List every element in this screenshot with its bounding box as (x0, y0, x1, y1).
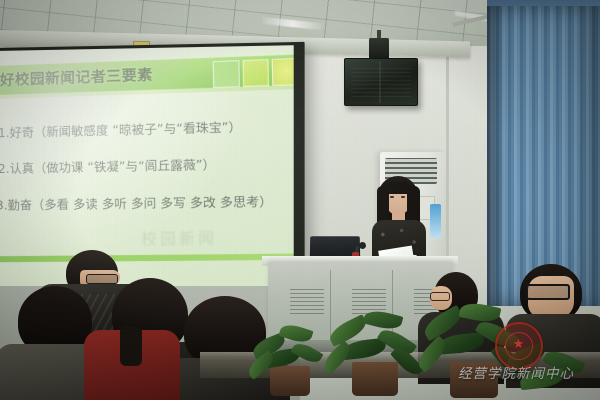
photo-scene: 好校园新闻记者三要素 1.好奇（新闻敏感度 “晾被子”与“看珠宝”） 2.认真（… (0, 0, 600, 400)
plant-pot (270, 366, 310, 396)
slide-thumbnail-group (213, 58, 294, 86)
glasses-icon (526, 284, 570, 300)
slide-thumbnail-2 (242, 59, 269, 87)
curtain-shadow (487, 6, 505, 306)
slide-bullet-3: 3.勤奋（多看 多读 多听 多问 多写 多改 多思考） (0, 191, 273, 213)
slide-bullet-1: 1.好奇（新闻敏感度 “晾被子”与“看珠宝”） (0, 117, 242, 142)
watermark-organization: 经营学院新闻中心 (458, 362, 574, 382)
plant-leaf (459, 300, 502, 325)
speaker-grill (351, 67, 411, 97)
microphone-head-icon (359, 242, 366, 249)
presenter-eye-left (390, 196, 394, 198)
plant-leaf (291, 339, 324, 366)
plant-leaf (363, 308, 404, 333)
speaker-mount (369, 38, 389, 60)
podium-vent-1 (290, 288, 324, 314)
ac-badge (430, 204, 441, 238)
list-item (84, 316, 176, 400)
plant-pot (352, 362, 398, 396)
slide-bullet-2: 2.认真（做功课 “铁凝”与“闾丘露薇”） (0, 154, 216, 177)
slide-thumbnail-3 (272, 58, 294, 86)
wall-speaker-icon (344, 58, 418, 106)
seal-star-icon: ★ (511, 337, 526, 352)
slide-thumbnail-1 (213, 60, 240, 88)
slide-faint-watermark: 校园新闻 (141, 226, 280, 255)
aud-red-jacket-collar (120, 326, 142, 366)
slide-bullet-list: 1.好奇（新闻敏感度 “晾被子”与“看珠宝”） 2.认真（做功课 “铁凝”与“闾… (0, 112, 294, 115)
presenter-eye-right (401, 196, 405, 198)
